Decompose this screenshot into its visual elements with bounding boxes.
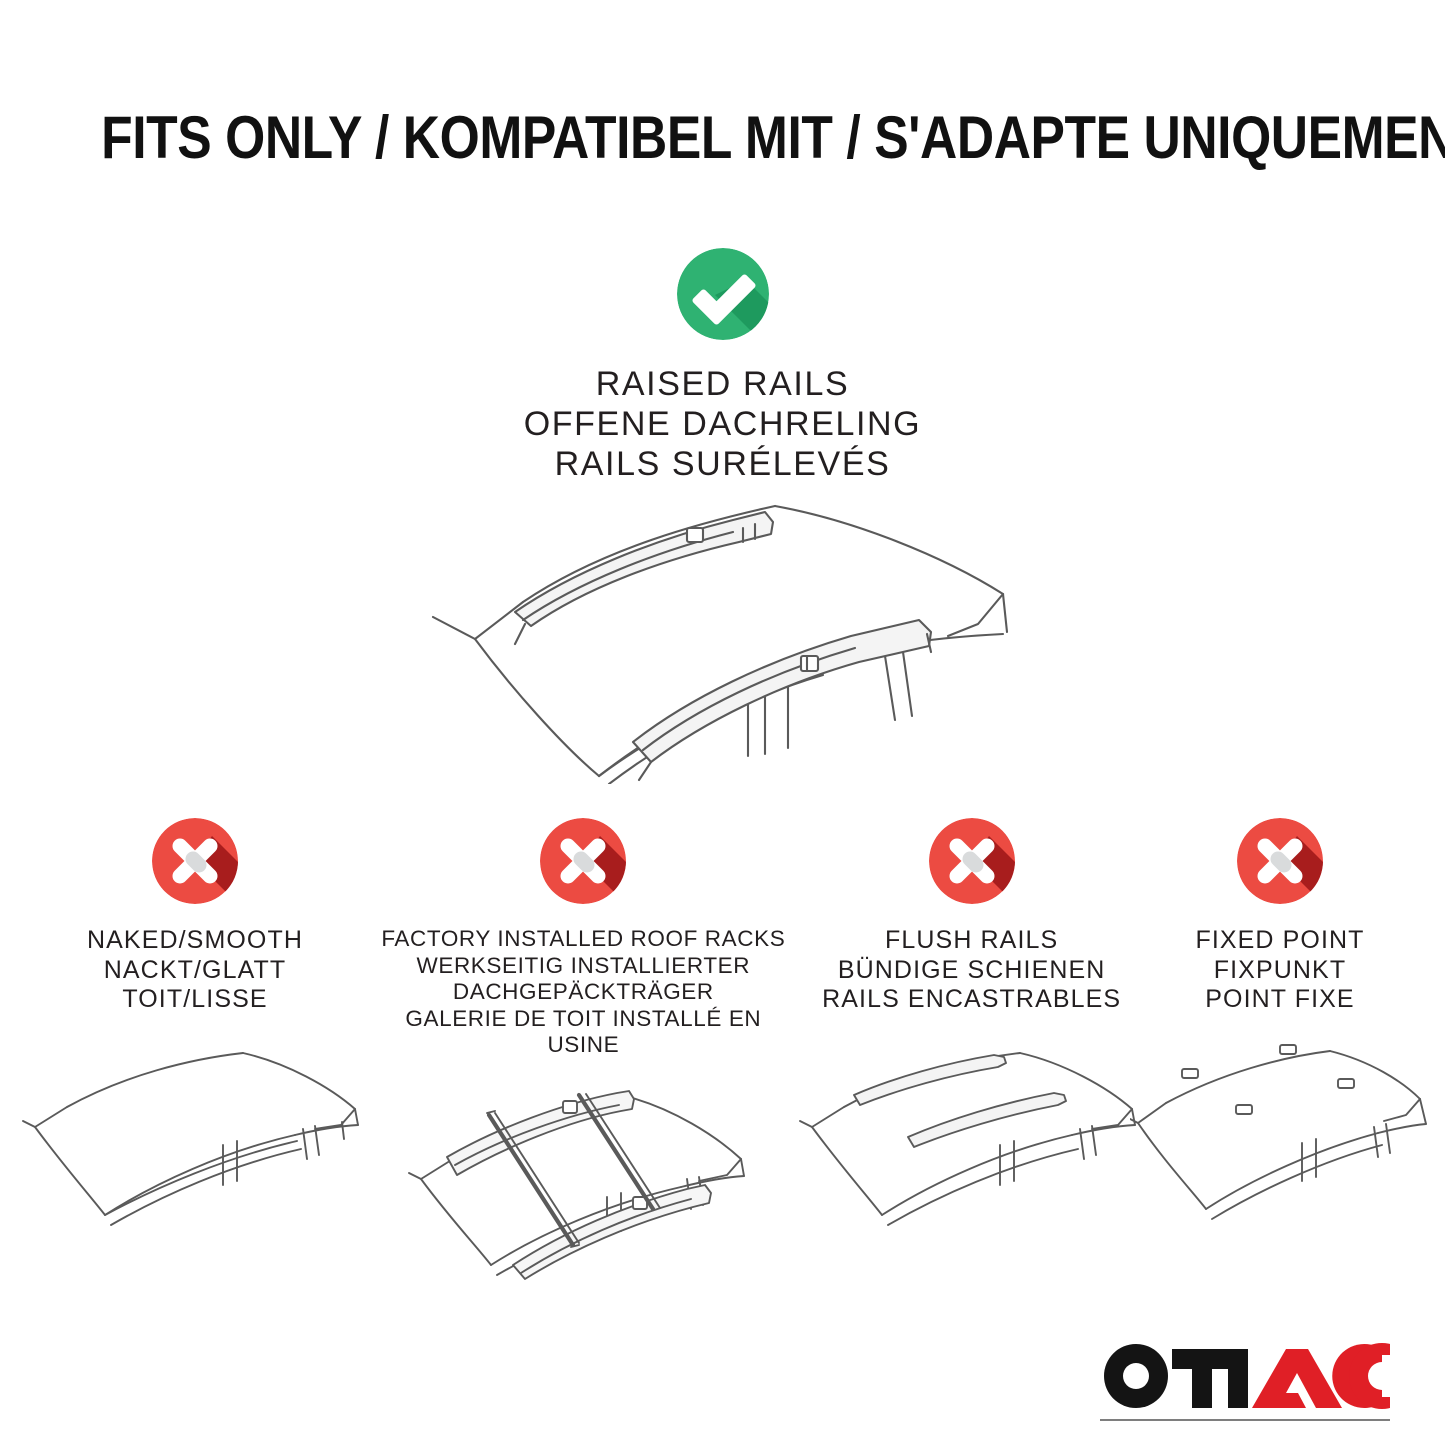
car-roof-fixed-point-illustration xyxy=(1130,1029,1430,1244)
incompatible-label-factory-roof-racks: FACTORY INSTALLED ROOF RACKS WERKSEITIG … xyxy=(368,926,798,1059)
omac-logo-svg xyxy=(1100,1343,1390,1427)
logo-letter-a xyxy=(1252,1349,1342,1408)
page-title: FITS ONLY / KOMPATIBEL MIT / S'ADAPTE UN… xyxy=(101,103,1344,172)
incompatible-item-flush-rails: FLUSH RAILS BÜNDIGE SCHIENEN RAILS ENCAS… xyxy=(807,818,1137,1244)
label-line-en: FLUSH RAILS xyxy=(822,926,1121,956)
cross-circle-svg xyxy=(540,818,626,904)
car-roof-naked-smooth-illustration xyxy=(15,1029,375,1244)
label-line-fr: POINT FIXE xyxy=(1195,985,1364,1015)
label-line-de: FIXPUNKT xyxy=(1195,956,1364,986)
label-line-fr: TOIT/LISSE xyxy=(87,985,303,1015)
compatible-label-line-de: OFFENE DACHRELING xyxy=(524,404,921,444)
incompatible-item-naked-smooth: NAKED/SMOOTH NACKT/GLATT TOIT/LISSE xyxy=(30,818,360,1244)
brand-logo xyxy=(1100,1343,1390,1427)
cross-circle-icon xyxy=(929,818,1015,904)
compatible-label: RAISED RAILS OFFENE DACHRELING RAILS SUR… xyxy=(524,364,921,484)
cross-circle-icon xyxy=(1237,818,1323,904)
car-roof-raised-rails-illustration xyxy=(403,484,1043,784)
label-line-de: BÜNDIGE SCHIENEN xyxy=(822,956,1121,986)
incompatible-item-factory-roof-racks: FACTORY INSTALLED ROOF RACKS WERKSEITIG … xyxy=(368,818,798,1298)
label-line-en: FACTORY INSTALLED ROOF RACKS xyxy=(368,926,798,953)
compatible-section: RAISED RAILS OFFENE DACHRELING RAILS SUR… xyxy=(0,248,1445,784)
label-line-en: FIXED POINT xyxy=(1195,926,1364,956)
cross-circle-svg xyxy=(929,818,1015,904)
check-circle-icon xyxy=(677,248,769,340)
logo-underline xyxy=(1100,1419,1390,1421)
label-line-en: NAKED/SMOOTH xyxy=(87,926,303,956)
cross-circle-svg xyxy=(152,818,238,904)
check-circle-svg xyxy=(677,248,769,340)
label-line-de-2: DACHGEPÄCKTRÄGER xyxy=(368,979,798,1006)
label-line-de-1: WERKSEITIG INSTALLIERTER xyxy=(368,953,798,980)
incompatible-label-naked-smooth: NAKED/SMOOTH NACKT/GLATT TOIT/LISSE xyxy=(87,926,303,1015)
cross-circle-svg xyxy=(1237,818,1323,904)
label-line-fr: GALERIE DE TOIT INSTALLÉ EN USINE xyxy=(368,1006,798,1059)
car-roof-flush-rails-illustration xyxy=(792,1029,1152,1244)
label-line-de: NACKT/GLATT xyxy=(87,956,303,986)
cross-circle-icon xyxy=(540,818,626,904)
car-roof-factory-roof-racks-illustration xyxy=(403,1073,763,1298)
cross-circle-icon xyxy=(152,818,238,904)
incompatible-label-flush-rails: FLUSH RAILS BÜNDIGE SCHIENEN RAILS ENCAS… xyxy=(822,926,1121,1015)
incompatible-label-fixed-point: FIXED POINT FIXPUNKT POINT FIXE xyxy=(1195,926,1364,1015)
logo-letter-m xyxy=(1172,1349,1248,1408)
incompatible-section: NAKED/SMOOTH NACKT/GLATT TOIT/LISSE xyxy=(0,818,1445,1298)
incompatible-item-fixed-point: FIXED POINT FIXPUNKT POINT FIXE xyxy=(1145,818,1415,1244)
compatible-label-line-fr: RAILS SURÉLEVÉS xyxy=(524,444,921,484)
label-line-fr: RAILS ENCASTRABLES xyxy=(822,985,1121,1015)
compatible-label-line-en: RAISED RAILS xyxy=(524,364,921,404)
